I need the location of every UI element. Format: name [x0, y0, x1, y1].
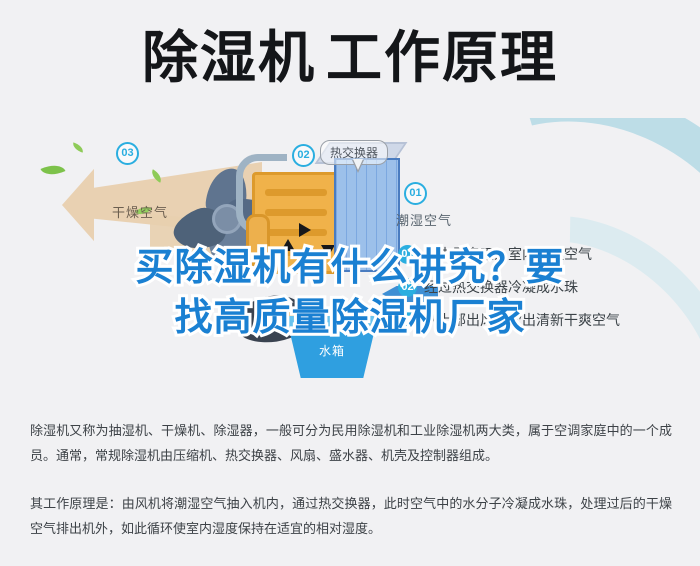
- badge-02: 02: [292, 144, 315, 167]
- leaf-icon: [41, 160, 66, 180]
- callout-tail-icon: [352, 160, 364, 173]
- coil-line: [265, 229, 327, 236]
- water-tank-label: 水箱: [286, 342, 378, 359]
- page-title-part2: 工作原理: [326, 26, 558, 89]
- page-title: 除湿机工作原理: [0, 28, 700, 88]
- overlay-headline-line1: 买除湿机有什么讲究？要: [0, 243, 700, 293]
- page-title-part1: 除湿机: [142, 26, 316, 89]
- paragraph-1: 除湿机又称为抽湿机、干燥机、除湿器，一般可分为民用除湿机和工业除湿机两大类，属于…: [30, 418, 672, 469]
- leaf-icon: [71, 142, 85, 152]
- badge-01: 01: [404, 182, 427, 205]
- paragraph-2: 其工作原理是：由风机将潮湿空气抽入机内，通过热交换器，此时空气中的水分子冷凝成水…: [30, 491, 672, 542]
- dry-air-label: 干燥空气: [112, 202, 168, 221]
- infographic-page: 除湿机工作原理 03 干燥空气: [0, 0, 700, 566]
- flow-arrow-right-icon: [299, 223, 311, 237]
- coil-line: [265, 209, 327, 216]
- badge-03: 03: [116, 142, 139, 165]
- humid-air-label: 潮湿空气: [396, 210, 452, 229]
- overlay-headline: 买除湿机有什么讲究？要 找高质量除湿机厂家: [0, 243, 700, 343]
- coil-line: [265, 189, 327, 196]
- overlay-headline-line2: 找高质量除湿机厂家: [0, 293, 700, 343]
- article-body: 除湿机又称为抽湿机、干燥机、除湿器，一般可分为民用除湿机和工业除湿机两大类，属于…: [30, 418, 672, 541]
